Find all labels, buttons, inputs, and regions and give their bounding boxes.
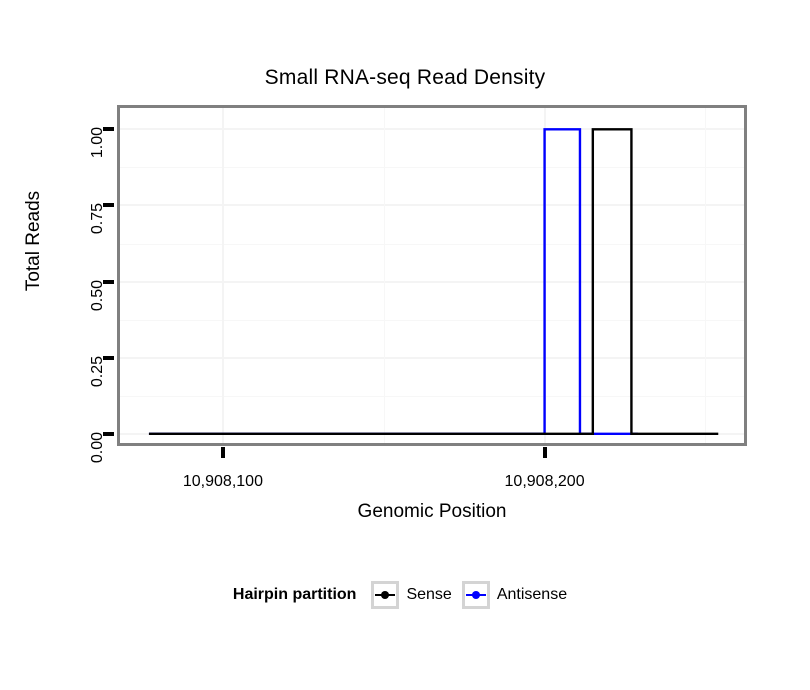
y-tick-label: 0.75	[89, 203, 107, 234]
legend-entry-antisense[interactable]: Antisense	[462, 581, 567, 609]
legend-entries: SenseAntisense	[371, 581, 577, 609]
legend-key-point	[472, 591, 480, 599]
series-svg	[120, 108, 744, 443]
page-title: Small RNA-seq Read Density	[0, 66, 810, 90]
y-tick-label: 0.50	[89, 280, 107, 311]
series-line-antisense	[149, 129, 638, 434]
legend-label: Sense	[406, 586, 451, 604]
plot-panel	[117, 105, 747, 446]
legend-entry-sense[interactable]: Sense	[371, 581, 451, 609]
legend-key-antisense	[462, 581, 490, 609]
legend-title: Hairpin partition	[233, 586, 357, 604]
x-tick-mark	[543, 447, 547, 458]
y-tick-label: 0.25	[89, 356, 107, 387]
legend-key-point	[381, 591, 389, 599]
legend: Hairpin partition SenseAntisense	[0, 581, 810, 609]
y-axis-title: Total Reads	[23, 181, 45, 301]
x-tick-mark	[221, 447, 225, 458]
plot-inner	[120, 108, 744, 443]
legend-key-sense	[371, 581, 399, 609]
x-tick-label: 10,908,200	[505, 473, 585, 491]
legend-label: Antisense	[497, 586, 567, 604]
x-axis-title: Genomic Position	[117, 501, 747, 523]
series-layer	[120, 108, 744, 443]
y-tick-label: 1.00	[89, 127, 107, 158]
x-tick-label: 10,908,100	[183, 473, 263, 491]
series-line-sense	[149, 129, 718, 434]
y-tick-label: 0.00	[89, 432, 107, 463]
